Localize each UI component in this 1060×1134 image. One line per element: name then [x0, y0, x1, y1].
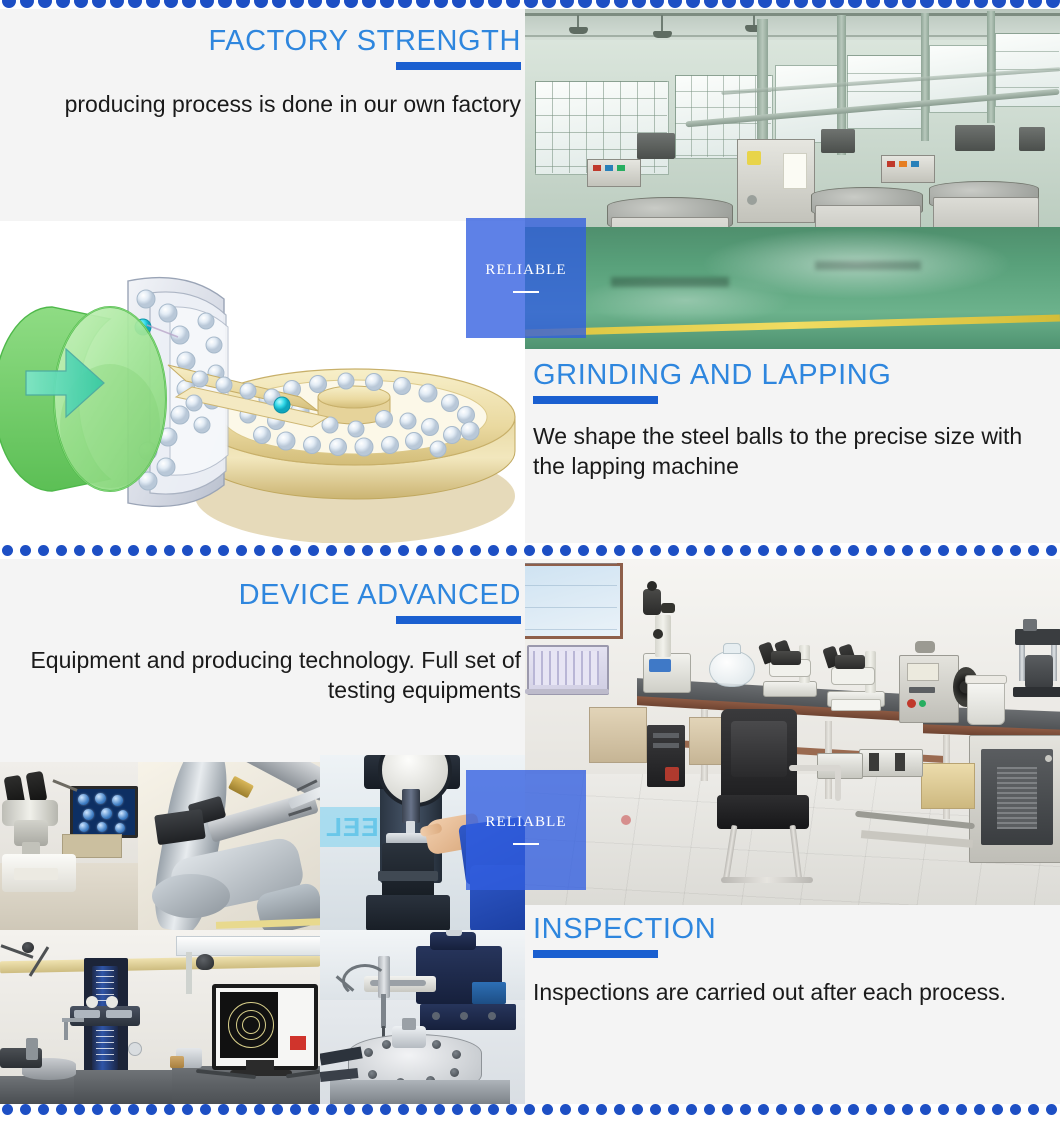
- reliable-badge-bottom-label: RELIABLE: [485, 815, 566, 830]
- grinding-and-lapping-body: We shape the steel balls to the precise …: [533, 422, 1058, 482]
- roughness-tester-photo: [320, 930, 525, 1104]
- factory-strength-accent-bar: [396, 62, 521, 70]
- roundness-tester-photo: [0, 930, 320, 1104]
- reliable-badge-top: RELIABLE: [466, 218, 586, 338]
- precision-probe-photo: [138, 762, 320, 930]
- reliable-badge-top-label: RELIABLE: [485, 263, 566, 278]
- factory-strength-heading: FACTORY STRENGTH: [21, 27, 521, 56]
- lapping-process-diagram: [0, 221, 525, 543]
- dotted-divider-bottom: [0, 1104, 1060, 1120]
- device-advanced-heading: DEVICE ADVANCED: [21, 581, 521, 610]
- factory-floor-photo: [525, 9, 1060, 349]
- testing-laboratory-photo: [525, 559, 1060, 905]
- section-device-advanced: DEVICE ADVANCED Equipment and producing …: [0, 559, 525, 762]
- grinding-and-lapping-accent-bar: [533, 396, 658, 404]
- inspection-heading: INSPECTION: [533, 915, 1058, 944]
- device-advanced-body: Equipment and producing technology. Full…: [21, 646, 521, 706]
- lapping-diagram-svg: [0, 221, 525, 543]
- section-factory-strength: FACTORY STRENGTH producing process is do…: [0, 9, 525, 221]
- device-advanced-accent-bar: [396, 616, 521, 624]
- microscope-photo: [0, 762, 138, 930]
- dotted-divider-middle: [0, 543, 1060, 559]
- section-grinding-and-lapping: GRINDING AND LAPPING We shape the steel …: [525, 349, 1060, 543]
- inspection-body: Inspections are carried out after each p…: [533, 978, 1058, 1008]
- inspection-accent-bar: [533, 950, 658, 958]
- grinding-and-lapping-heading: GRINDING AND LAPPING: [533, 361, 1058, 390]
- reliable-badge-bottom-dash: [513, 843, 539, 845]
- reliable-badge-bottom: RELIABLE: [466, 770, 586, 890]
- product-detail-page: FACTORY STRENGTH producing process is do…: [0, 0, 1060, 1134]
- factory-strength-body: producing process is done in our own fac…: [21, 90, 521, 120]
- section-inspection: INSPECTION Inspections are carried out a…: [525, 905, 1060, 1104]
- reliable-badge-top-dash: [513, 291, 539, 293]
